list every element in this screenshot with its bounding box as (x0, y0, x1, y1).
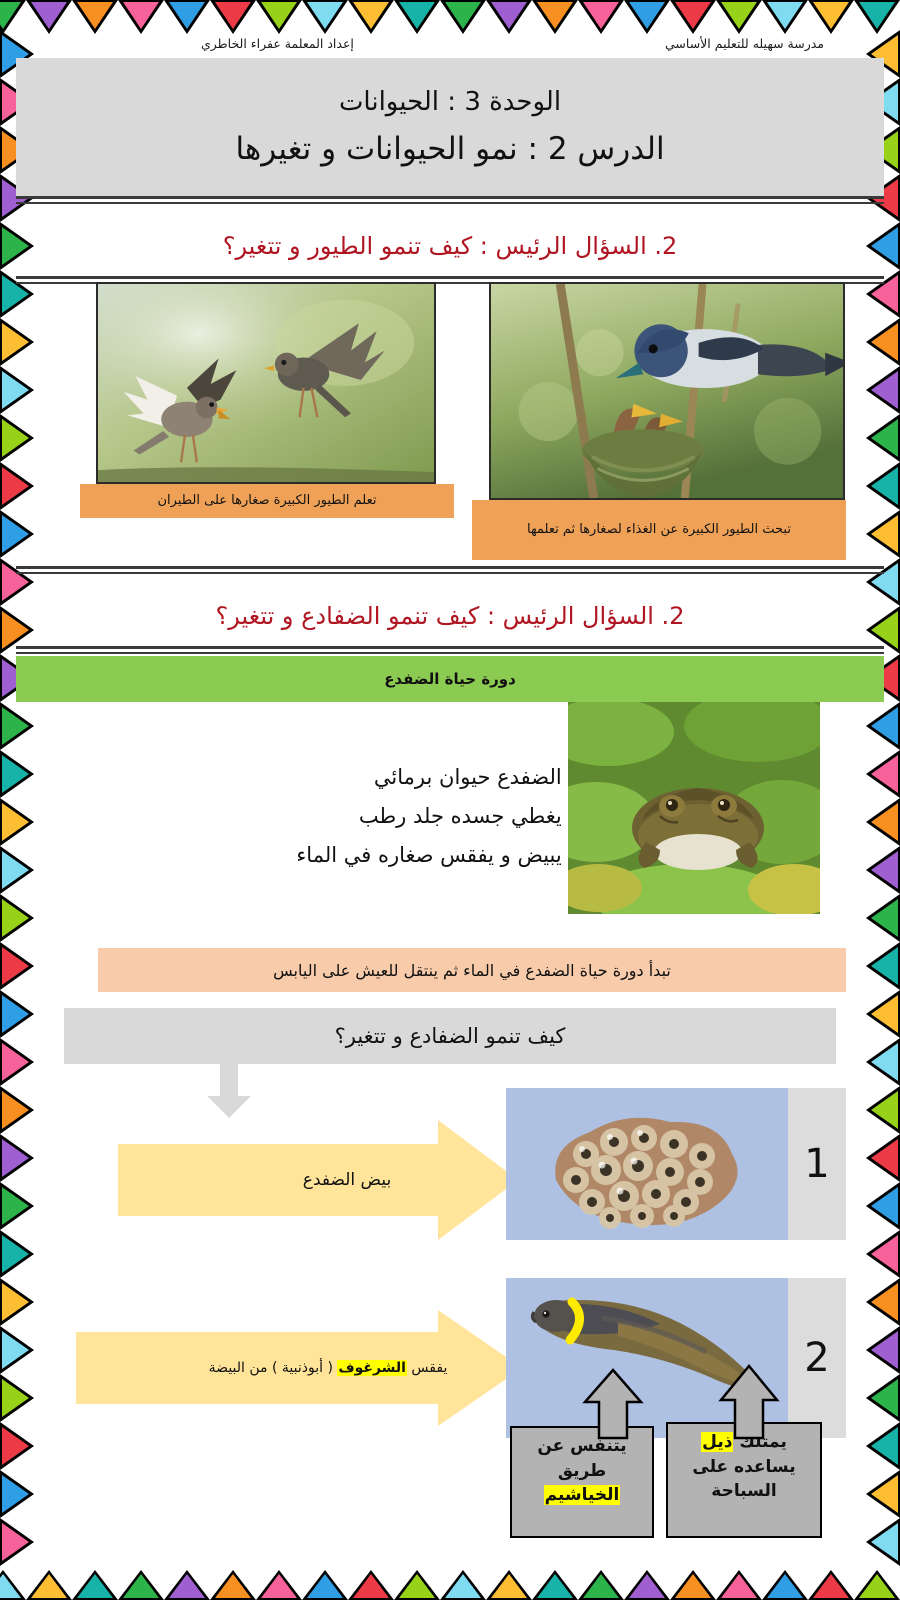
pennant-bottom-13 (256, 1570, 302, 1600)
divider-under-birds-question (16, 276, 884, 279)
stage-2-arrow: يفقس الشرغوف ( أبوذنبية ) من البيضة (76, 1310, 522, 1426)
pennant-bottom-4 (670, 1570, 716, 1600)
caption-birds-left: تعلم الطيور الكبيرة صغارها على الطيران (80, 484, 454, 518)
stage-2-number: 2 (788, 1278, 846, 1438)
divider-under-frogs-question (16, 646, 884, 649)
life-cycle-banner: دورة حياة الضفدع (16, 656, 884, 702)
unit-title: الوحدة 3 : الحيوانات (339, 87, 561, 117)
stage-1-image (506, 1088, 788, 1240)
divider-above-frogs-question-2 (16, 572, 884, 574)
pennant-top-10 (394, 0, 440, 34)
pennant-bottom-6 (578, 1570, 624, 1600)
bunting-border-top (0, 0, 900, 34)
frog-fact-3: - يبيض و يفقس صغاره في الماء (206, 836, 576, 875)
pennant-bottom-11 (348, 1570, 394, 1600)
pennant-top-13 (256, 0, 302, 34)
header-meta-row: مدرسة سهيله للتعليم الأساسي إعداد المعلم… (16, 36, 884, 58)
pennant-bottom-5 (624, 1570, 670, 1600)
pennant-top-3 (716, 0, 762, 34)
pennant-top-4 (670, 0, 716, 34)
pennant-bottom-17 (72, 1570, 118, 1600)
tail-callout-line-3: السباحة (672, 1479, 816, 1504)
birds-question-bar: 2. السؤال الرئيس : كيف تنمو الطيور و تتغ… (16, 216, 884, 276)
frog-facts-list: - الضفدع حيوان برمائي - يغطي جسده جلد رط… (206, 758, 576, 875)
caption-birds-right: تبحث الطيور الكبيرة عن الغذاء لصغارها ثم… (472, 500, 846, 560)
divider-above-frogs-question (16, 566, 884, 569)
school-name: مدرسة سهيله للتعليم الأساسي (665, 36, 824, 58)
pennant-top-19 (0, 0, 26, 34)
frogs-question-bar: 2. السؤال الرئيس : كيف تنمو الضفادع و تت… (16, 586, 884, 646)
pennant-bottom-14 (210, 1570, 256, 1600)
pennant-bottom-15 (164, 1570, 210, 1600)
stage-1-number: 1 (788, 1088, 846, 1240)
lesson-title: الدرس 2 : نمو الحيوانات و تغيرها (235, 131, 664, 167)
pennant-top-0 (854, 0, 900, 34)
lesson-title-panel: الوحدة 3 : الحيوانات الدرس 2 : نمو الحيو… (16, 58, 884, 196)
life-cycle-subheading: كيف تنمو الضفادع و تتغير؟ (64, 1008, 836, 1064)
pennant-top-16 (118, 0, 164, 34)
photo-bird-feeding-nest (489, 282, 845, 500)
stage-2-text-after: ( أبوذنبية ) من البيضة (209, 1360, 338, 1376)
frog-fact-1: - الضفدع حيوان برمائي (206, 758, 576, 797)
pennant-bottom-10 (394, 1570, 440, 1600)
gills-callout-line-3: الخياشيم (516, 1483, 648, 1508)
pennant-bottom-19 (0, 1570, 26, 1600)
pennant-top-2 (762, 0, 808, 34)
pennant-bottom-0 (854, 1570, 900, 1600)
pennant-bottom-8 (486, 1570, 532, 1600)
divider-under-title-2 (16, 202, 884, 204)
gills-callout-line-2: طريق (516, 1459, 648, 1484)
photo-sparrows-flying (96, 282, 436, 484)
pennant-bottom-7 (532, 1570, 578, 1600)
divider-under-frogs-question-2 (16, 652, 884, 654)
pennant-top-8 (486, 0, 532, 34)
pennant-bottom-1 (808, 1570, 854, 1600)
gills-callout-box: يتنفس عن طريق الخياشيم (510, 1426, 654, 1538)
pennant-top-14 (210, 0, 256, 34)
pennant-top-1 (808, 0, 854, 34)
stage-2-arrow-label: يفقس الشرغوف ( أبوذنبية ) من البيضة (151, 1360, 448, 1376)
gills-callout-arrow (582, 1368, 644, 1440)
worksheet-page: مدرسة سهيله للتعليم الأساسي إعداد المعلم… (0, 0, 900, 1600)
pennant-top-11 (348, 0, 394, 34)
stage-1-panel: 1 (506, 1088, 846, 1240)
stage-2-text-before: يفقس (407, 1360, 447, 1376)
pennant-bottom-18 (26, 1570, 72, 1600)
tail-callout-arrow (718, 1364, 780, 1440)
pennant-top-7 (532, 0, 578, 34)
worksheet-content: مدرسة سهيله للتعليم الأساسي إعداد المعلم… (16, 30, 884, 1540)
gills-highlight: الخياشيم (544, 1485, 621, 1505)
pennant-top-12 (302, 0, 348, 34)
pennant-bottom-2 (762, 1570, 808, 1600)
frogs-question-text: 2. السؤال الرئيس : كيف تنمو الضفادع و تت… (216, 602, 685, 630)
stage-1-arrow-label: بيض الضفدع (245, 1170, 391, 1190)
pennant-top-5 (624, 0, 670, 34)
bunting-border-bottom (0, 1566, 900, 1600)
stage-1-arrow: بيض الضفدع (118, 1120, 518, 1240)
frog-habitat-note: تبدأ دورة حياة الضفدع في الماء ثم ينتقل … (98, 948, 846, 992)
pennant-bottom-3 (716, 1570, 762, 1600)
pennant-top-6 (578, 0, 624, 34)
life-cycle-banner-text: دورة حياة الضفدع (384, 670, 516, 688)
pennant-top-9 (440, 0, 486, 34)
grey-connector-stem (220, 1064, 238, 1098)
pennant-bottom-9 (440, 1570, 486, 1600)
pennant-bottom-12 (302, 1570, 348, 1600)
birds-question-text: 2. السؤال الرئيس : كيف تنمو الطيور و تتغ… (223, 232, 678, 260)
pennant-top-15 (164, 0, 210, 34)
stage-2-highlight-tadpole: الشرغوف (337, 1360, 407, 1376)
photo-frog-on-leaves (568, 702, 820, 914)
tail-callout-line-2: يساعده على (672, 1455, 816, 1480)
pennant-top-18 (26, 0, 72, 34)
frog-fact-2: - يغطي جسده جلد رطب (206, 797, 576, 836)
prepared-by: إعداد المعلمة عفراء الخاطري (201, 36, 354, 58)
pennant-top-17 (72, 0, 118, 34)
divider-under-title (16, 196, 884, 199)
pennant-bottom-16 (118, 1570, 164, 1600)
grey-connector-arrowhead (207, 1096, 251, 1118)
stage-2-panel: 2 (506, 1278, 846, 1438)
